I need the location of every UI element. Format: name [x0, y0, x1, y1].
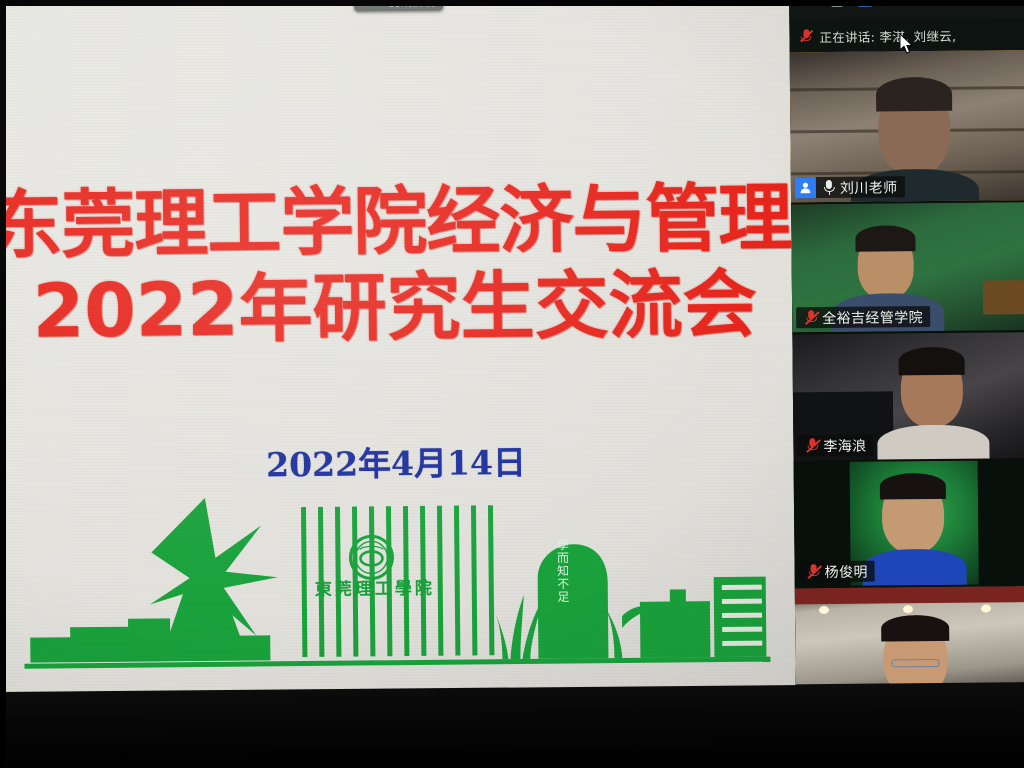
university-motto: 學而知不足 — [547, 539, 570, 604]
person-icon — [795, 177, 816, 198]
participant-tile[interactable]: 杨俊明 — [794, 460, 1024, 586]
monitor-bezel-top — [0, 0, 1024, 6]
monitor-bezel-left — [0, 0, 6, 768]
participant-name: 杨俊明 — [825, 561, 868, 581]
participant-name-bar: 刘川老师 — [795, 176, 905, 198]
shared-screen-presentation[interactable]: 东莞理工学院经济与管理学院 2022年研究生交流会 2022年4月14日 — [0, 0, 796, 698]
participant-name: 刘川老师 — [840, 177, 898, 198]
monitor-bezel-bottom — [0, 683, 1024, 768]
participant-name-bar: 李海浪 — [797, 435, 873, 457]
participant-name-bar: 杨俊明 — [799, 561, 875, 583]
mic-muted-icon — [803, 309, 820, 326]
participant-name: 李海浪 — [823, 435, 866, 455]
mic-muted-icon — [799, 29, 812, 44]
screenshot-root: 东莞理工学院经济与管理学院 2022年研究生交流会 2022年4月14日 — [0, 0, 1024, 768]
participant-tile[interactable]: 李海浪 — [792, 332, 1024, 460]
monitor-screen: 东莞理工学院经济与管理学院 2022年研究生交流会 2022年4月14日 — [0, 0, 1024, 712]
mic-muted-icon — [804, 437, 821, 454]
mic-on-icon — [821, 179, 838, 196]
participant-name-bar: 全裕吉经管学院 — [796, 306, 930, 328]
slide-title-line-2: 2022年研究生交流会 — [0, 244, 793, 359]
university-logo-name: 東莞理工學院 — [300, 574, 450, 600]
participant-name: 全裕吉经管学院 — [822, 307, 923, 328]
mic-muted-icon — [806, 563, 823, 580]
mouse-cursor — [899, 33, 914, 59]
participant-tile[interactable]: 全裕吉经管学院 — [791, 202, 1024, 332]
speaking-label: 正在讲话: 李湛, 刘继云, — [819, 25, 956, 45]
participant-strip: 正在讲话: 李湛, 刘继云, 刘川老师 — [789, 0, 1024, 704]
participant-tile[interactable]: 刘川老师 — [790, 50, 1024, 202]
